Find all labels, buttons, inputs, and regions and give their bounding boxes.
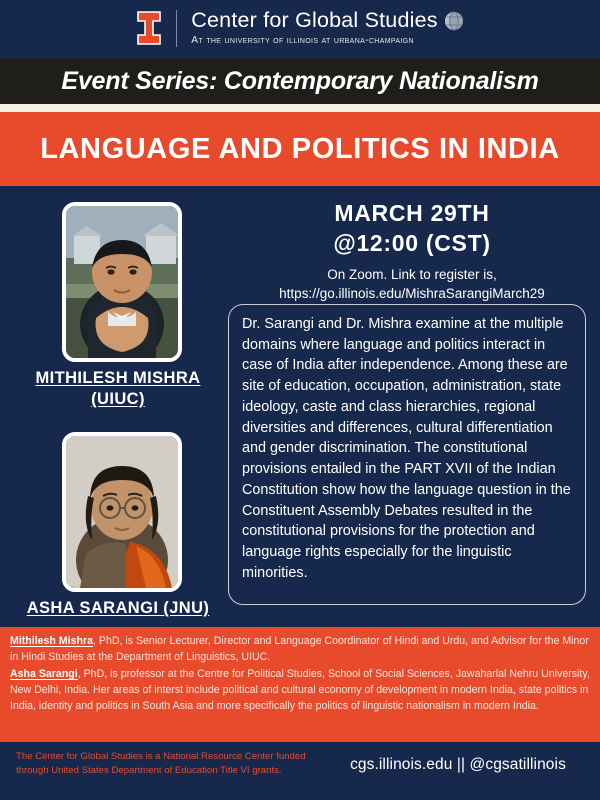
bio-1-text: , PhD, is Senior Lecturer, Director and … bbox=[10, 635, 589, 663]
poster-title-bar: LANGUAGE AND POLITICS IN INDIA bbox=[0, 112, 600, 186]
poster-body: MITHILESH MISHRA (UIUC) bbox=[0, 186, 600, 627]
speaker-bios: Mithilesh Mishra, PhD, is Senior Lecture… bbox=[0, 627, 600, 742]
event-poster: Center for Global Studies At the Univers… bbox=[0, 0, 600, 800]
speaker-1-name-line1: MITHILESH MISHRA bbox=[36, 369, 201, 387]
event-date: MARCH 29TH bbox=[232, 198, 592, 228]
event-time: @12:00 (CST) bbox=[232, 228, 592, 258]
bio-2-text: , PhD, is professor at the Centre for Po… bbox=[10, 668, 590, 712]
event-description-box: Dr. Sarangi and Dr. Mishra examine at th… bbox=[228, 304, 586, 605]
speaker-1-name: MITHILESH MISHRA (UIUC) bbox=[0, 368, 236, 409]
speaker-1-name-line2: (UIUC) bbox=[91, 390, 145, 408]
speaker-2-name-line1: ASHA SARANGI (JNU) bbox=[27, 599, 210, 617]
bio-2-name: Asha Sarangi bbox=[10, 668, 78, 680]
header-divider bbox=[176, 10, 177, 47]
poster-footer: The Center for Global Studies is a Natio… bbox=[0, 742, 600, 800]
illinois-block-i-icon bbox=[136, 11, 162, 45]
bio-1-name: Mithilesh Mishra bbox=[10, 635, 93, 647]
speaker-2-name: ASHA SARANGI (JNU) bbox=[0, 598, 236, 619]
bio-item: Mithilesh Mishra, PhD, is Senior Lecture… bbox=[10, 633, 590, 665]
event-platform-note: On Zoom. Link to register is, bbox=[232, 265, 592, 285]
bio-item: Asha Sarangi, PhD, is professor at the C… bbox=[10, 666, 590, 714]
cgs-title: Center for Global Studies bbox=[191, 10, 437, 32]
avatar bbox=[62, 202, 182, 362]
event-datetime-block: MARCH 29TH @12:00 (CST) On Zoom. Link to… bbox=[232, 198, 592, 304]
event-series-label: Event Series: Contemporary Nationalism bbox=[61, 67, 538, 96]
poster-header: Center for Global Studies At the Univers… bbox=[0, 0, 600, 56]
event-series-bar: Event Series: Contemporary Nationalism bbox=[0, 58, 600, 104]
cgs-subtitle: At the University of Illinois at Urbana-… bbox=[191, 35, 463, 46]
page-title: LANGUAGE AND POLITICS IN INDIA bbox=[40, 133, 560, 166]
register-link[interactable]: https://go.illinois.edu/MishraSarangiMar… bbox=[232, 284, 592, 304]
event-description-text: Dr. Sarangi and Dr. Mishra examine at th… bbox=[242, 314, 572, 584]
cream-divider bbox=[0, 104, 600, 112]
funding-note: The Center for Global Studies is a Natio… bbox=[16, 750, 316, 777]
globe-icon bbox=[444, 11, 464, 31]
contact-info[interactable]: cgs.illinois.edu || @cgsatillinois bbox=[330, 756, 586, 774]
avatar bbox=[62, 432, 182, 592]
cgs-title-row: Center for Global Studies bbox=[191, 10, 463, 32]
